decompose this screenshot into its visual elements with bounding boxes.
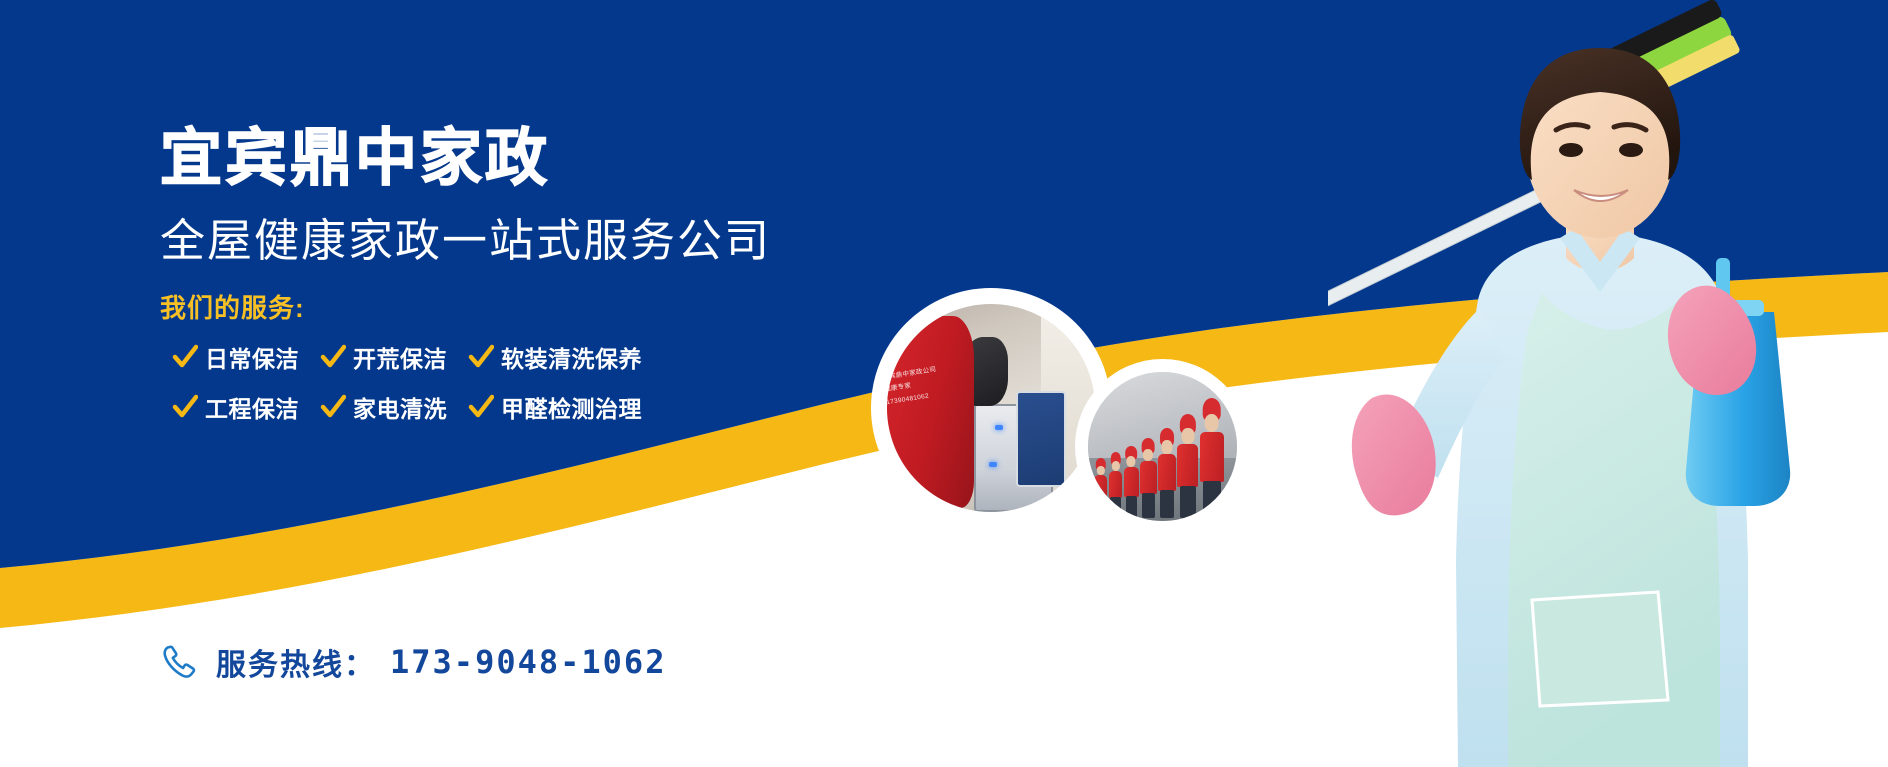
technician-photo: 宜宾鼎中家政公司 健康专家 17390481062	[887, 304, 1095, 512]
service-item[interactable]: 软装清洗保养	[468, 340, 688, 374]
services-row: 工程保洁 家电清洗 甲醛检测治理	[172, 384, 732, 430]
service-label: 家电清洗	[353, 390, 447, 424]
service-label: 工程保洁	[205, 390, 299, 424]
check-icon	[468, 344, 494, 370]
service-label: 开荒保洁	[353, 340, 447, 374]
service-label: 软装清洗保养	[501, 340, 642, 374]
phone-icon	[160, 643, 198, 681]
services-label: 我们的服务:	[160, 295, 305, 321]
cleaner-model-photo	[1328, 0, 1888, 767]
service-item[interactable]: 日常保洁	[172, 340, 320, 374]
service-hotline[interactable]: 服务热线： 173-9048-1062	[160, 640, 666, 684]
hotline-label: 服务热线：	[216, 640, 376, 684]
hotline-number[interactable]: 173-9048-1062	[390, 643, 666, 681]
photo-circle-team	[1075, 359, 1250, 534]
model-eye-left	[1559, 143, 1583, 157]
check-icon	[172, 394, 198, 420]
service-item[interactable]: 开荒保洁	[320, 340, 468, 374]
service-item[interactable]: 工程保洁	[172, 390, 320, 424]
services-grid: 日常保洁 开荒保洁 软装清洗保养	[172, 334, 732, 434]
service-label: 甲醛检测治理	[501, 390, 642, 424]
brand-title: 宜宾鼎中家政	[160, 128, 550, 190]
service-label: 日常保洁	[205, 340, 299, 374]
service-item[interactable]: 甲醛检测治理	[468, 390, 688, 424]
homepage-banner: 宜宾鼎中家政公司 健康专家 17390481062	[0, 0, 1888, 767]
check-icon	[320, 394, 346, 420]
photo-circle-technician: 宜宾鼎中家政公司 健康专家 17390481062	[871, 288, 1111, 528]
team-photo	[1088, 372, 1237, 521]
service-item[interactable]: 家电清洗	[320, 390, 468, 424]
check-icon	[320, 344, 346, 370]
check-icon	[172, 344, 198, 370]
brand-subtitle: 全屋健康家政一站式服务公司	[160, 218, 771, 263]
check-icon	[468, 394, 494, 420]
apron-pocket	[1532, 592, 1668, 706]
services-row: 日常保洁 开荒保洁 软装清洗保养	[172, 334, 732, 380]
model-eye-right	[1619, 143, 1643, 157]
